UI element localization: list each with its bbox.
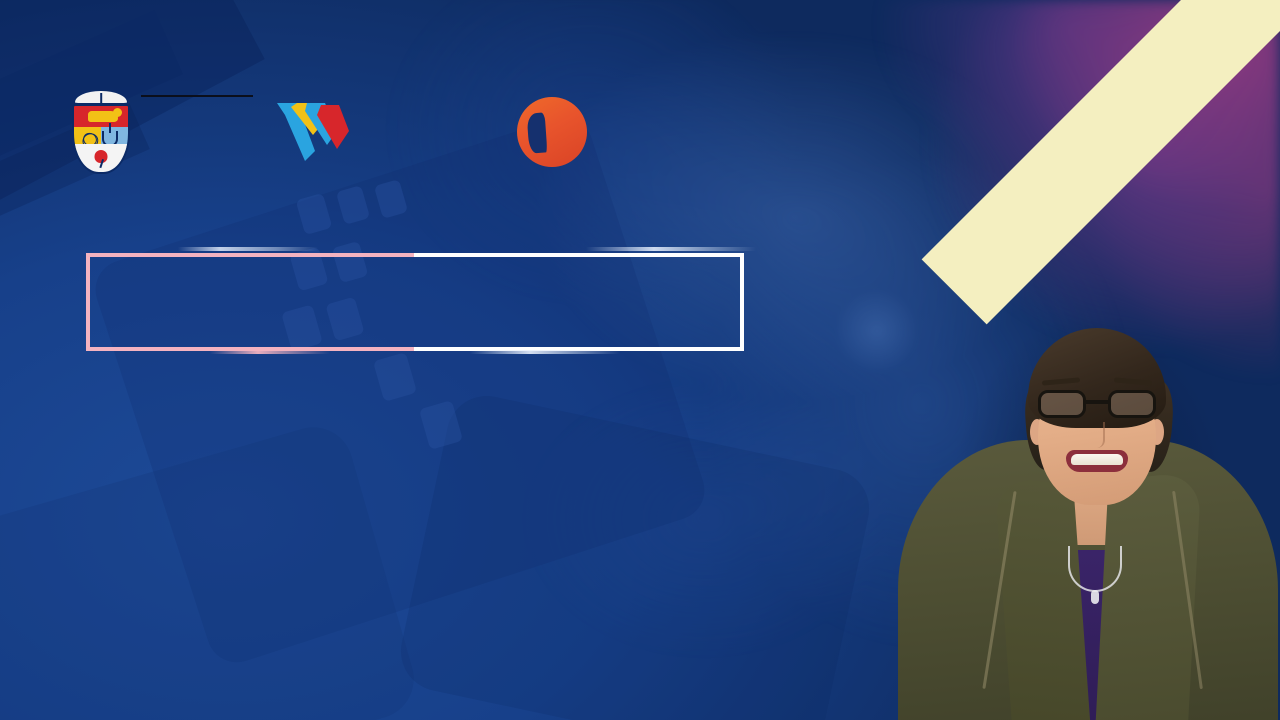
tiger-icon: [88, 111, 118, 122]
brush-stroke: [470, 350, 620, 354]
brush-stroke: [210, 350, 330, 354]
hibiscus-icon: [95, 150, 108, 163]
logo-row: [70, 84, 600, 180]
shield-shape: [72, 104, 130, 174]
webinar-poster: [0, 0, 1280, 720]
ukm-crest-logo: [70, 90, 253, 174]
glasses-lens-left: [1038, 390, 1086, 418]
portrait-teeth: [1071, 454, 1123, 465]
portrait-lapel-right: [1094, 471, 1201, 720]
crest-red-band: [74, 106, 128, 127]
portrait-nose: [1089, 422, 1105, 448]
ukm-crest-icon: [70, 90, 132, 174]
ukm-divider: [141, 95, 253, 97]
glasses-bridge: [1086, 400, 1108, 404]
portrait-mouth: [1066, 450, 1128, 472]
pusat-kepimpinan-wanita-logo: [504, 84, 600, 180]
portrait-glasses: [1036, 390, 1158, 420]
pkw-orange-disc: [517, 97, 587, 167]
brush-stroke: [178, 247, 318, 251]
glasses-lens-right: [1108, 390, 1156, 418]
brush-stroke: [586, 247, 756, 251]
webinar-headline: [100, 418, 1060, 424]
pkw-monogram: [517, 97, 587, 167]
uwk-v-mark-icon: [277, 101, 363, 163]
universiti-watan-kita-logo: [271, 93, 486, 171]
title-frame-white-half: [414, 253, 744, 351]
title-frame: [86, 253, 744, 351]
open-book-icon: [74, 90, 128, 104]
ukm-wordmark: [141, 90, 253, 99]
